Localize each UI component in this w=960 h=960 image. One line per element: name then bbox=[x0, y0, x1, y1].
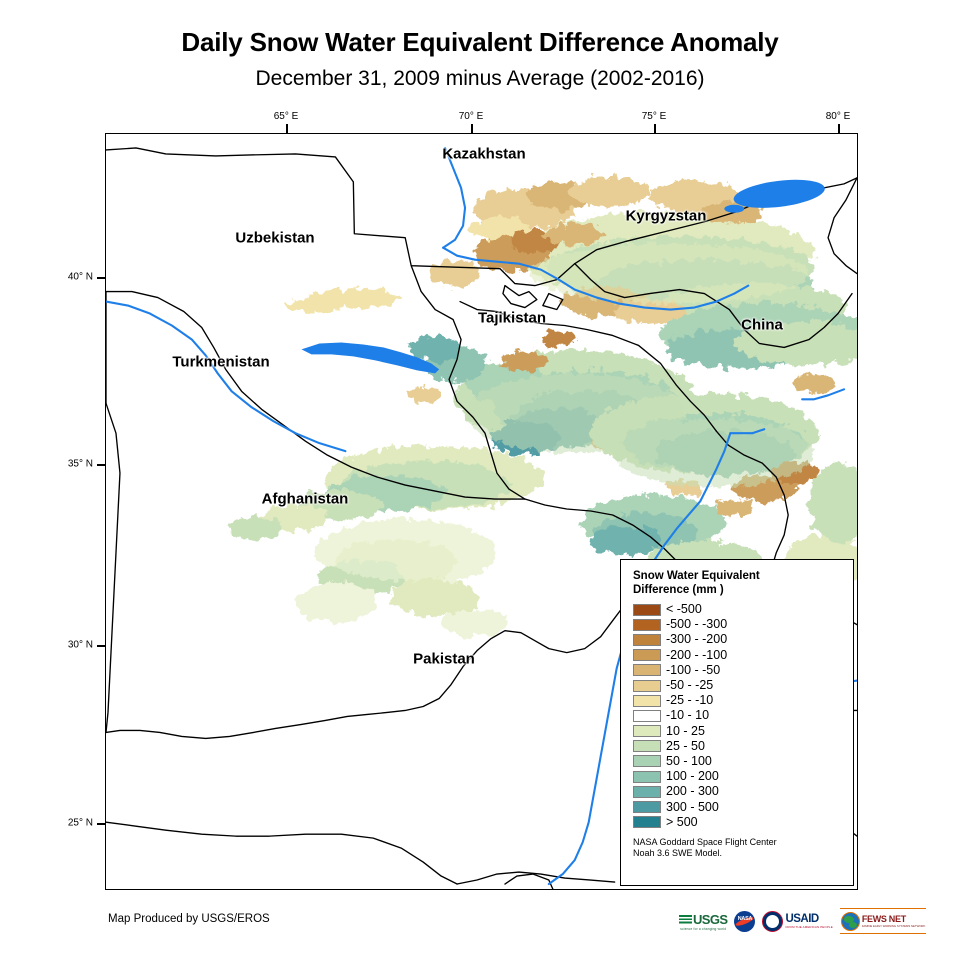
tick-y-label: 40° N bbox=[68, 272, 93, 283]
nasa-meatball-icon: NASA bbox=[734, 911, 755, 932]
legend-label: < -500 bbox=[666, 603, 702, 616]
legend-row: 10 - 25 bbox=[633, 724, 843, 739]
usgs-wave-icon bbox=[679, 913, 692, 925]
country-label-kazakhstan: Kazakhstan bbox=[442, 146, 525, 163]
legend-label: 100 - 200 bbox=[666, 770, 719, 783]
legend-label: -25 - -10 bbox=[666, 694, 713, 707]
page-title: Daily Snow Water Equivalent Difference A… bbox=[0, 27, 960, 58]
map-credit: Map Produced by USGS/EROS bbox=[108, 913, 270, 925]
legend-swatch bbox=[633, 771, 661, 783]
legend-label: > 500 bbox=[666, 816, 698, 829]
country-label-china: China bbox=[741, 317, 783, 334]
legend-row: 100 - 200 bbox=[633, 769, 843, 784]
legend-row: -25 - -10 bbox=[633, 693, 843, 708]
tick-y-label: 25° N bbox=[68, 818, 93, 829]
legend-swatch bbox=[633, 755, 661, 767]
legend-row: -10 - 10 bbox=[633, 708, 843, 723]
country-label-kyrgyzstan: Kyrgyzstan bbox=[626, 208, 707, 225]
legend-row: -300 - -200 bbox=[633, 632, 843, 647]
legend-label: -100 - -50 bbox=[666, 664, 720, 677]
legend-swatch bbox=[633, 634, 661, 646]
legend-title-line1: Snow Water Equivalent bbox=[633, 569, 843, 583]
tick-x-label: 70° E bbox=[459, 111, 484, 122]
legend-source: NASA Goddard Space Flight Center Noah 3.… bbox=[633, 837, 843, 860]
tick-x-mark bbox=[471, 124, 473, 133]
fews-globe-icon bbox=[841, 912, 860, 931]
legend-source-line1: NASA Goddard Space Flight Center bbox=[633, 837, 843, 849]
legend-label: 25 - 50 bbox=[666, 740, 705, 753]
tick-x-label: 65° E bbox=[274, 111, 299, 122]
legend-row: < -500 bbox=[633, 602, 843, 617]
legend-label: -200 - -100 bbox=[666, 649, 727, 662]
fews-logo[interactable]: FEWS NET FAMINE EARLY WARNING SYSTEMS NE… bbox=[840, 908, 927, 934]
legend-row: -100 - -50 bbox=[633, 663, 843, 678]
legend-row: 50 - 100 bbox=[633, 754, 843, 769]
tick-y-label: 30° N bbox=[68, 640, 93, 651]
nasa-wordmark: NASA bbox=[734, 916, 755, 922]
page-subtitle: December 31, 2009 minus Average (2002-20… bbox=[0, 67, 960, 91]
tick-y-mark bbox=[97, 645, 106, 647]
legend-label: -50 - -25 bbox=[666, 679, 713, 692]
tick-y-mark bbox=[97, 464, 106, 466]
legend-swatch bbox=[633, 816, 661, 828]
tick-x-mark bbox=[654, 124, 656, 133]
legend-label: 300 - 500 bbox=[666, 801, 719, 814]
legend-swatch bbox=[633, 710, 661, 722]
legend-swatch bbox=[633, 740, 661, 752]
country-label-tajikistan: Tajikistan bbox=[478, 310, 546, 327]
legend-title: Snow Water Equivalent Difference (mm ) bbox=[633, 569, 843, 597]
tick-y-mark bbox=[97, 277, 106, 279]
legend-swatch bbox=[633, 695, 661, 707]
usaid-logo[interactable]: USAID FROM THE AMERICAN PEOPLE bbox=[762, 910, 832, 932]
usaid-wordmark: USAID bbox=[785, 913, 832, 925]
legend-label: -500 - -300 bbox=[666, 618, 727, 631]
usgs-tagline: science for a changing world bbox=[680, 927, 726, 931]
legend-source-line2: Noah 3.6 SWE Model. bbox=[633, 848, 843, 860]
legend-swatch bbox=[633, 649, 661, 661]
tick-x-mark bbox=[286, 124, 288, 133]
legend-swatch bbox=[633, 680, 661, 692]
usaid-seal-icon bbox=[762, 911, 783, 932]
tick-x-label: 75° E bbox=[642, 111, 667, 122]
tick-x-mark bbox=[838, 124, 840, 133]
legend-swatch bbox=[633, 786, 661, 798]
legend-swatch bbox=[633, 801, 661, 813]
legend-class-list: < -500-500 - -300-300 - -200-200 - -100-… bbox=[633, 602, 843, 830]
tick-x-label: 80° E bbox=[826, 111, 851, 122]
legend-swatch bbox=[633, 604, 661, 616]
country-label-pakistan: Pakistan bbox=[413, 651, 475, 668]
country-label-turkmenistan: Turkmenistan bbox=[172, 354, 269, 371]
tick-y-label: 35° N bbox=[68, 459, 93, 470]
legend-label: -10 - 10 bbox=[666, 709, 709, 722]
legend-row: -200 - -100 bbox=[633, 648, 843, 663]
agency-logos: USGS science for a changing world NASA U… bbox=[679, 908, 926, 934]
usgs-wordmark: USGS bbox=[693, 912, 727, 927]
tick-y-mark bbox=[97, 823, 106, 825]
map-legend: Snow Water Equivalent Difference (mm ) <… bbox=[620, 559, 854, 886]
legend-row: 200 - 300 bbox=[633, 784, 843, 799]
country-label-afghanistan: Afghanistan bbox=[262, 491, 349, 508]
legend-label: 50 - 100 bbox=[666, 755, 712, 768]
usaid-tagline: FROM THE AMERICAN PEOPLE bbox=[785, 925, 832, 929]
fews-tagline: FAMINE EARLY WARNING SYSTEMS NETWORK bbox=[862, 924, 926, 928]
legend-row: > 500 bbox=[633, 815, 843, 830]
legend-row: -500 - -300 bbox=[633, 617, 843, 632]
usgs-logo[interactable]: USGS science for a changing world bbox=[679, 910, 727, 932]
legend-row: 300 - 500 bbox=[633, 799, 843, 814]
legend-title-line2: Difference (mm ) bbox=[633, 583, 843, 597]
legend-swatch bbox=[633, 619, 661, 631]
legend-label: 200 - 300 bbox=[666, 785, 719, 798]
legend-row: -50 - -25 bbox=[633, 678, 843, 693]
country-label-uzbekistan: Uzbekistan bbox=[235, 230, 314, 247]
nasa-logo[interactable]: NASA bbox=[734, 910, 755, 932]
fews-wordmark: FEWS NET bbox=[862, 914, 926, 924]
legend-swatch bbox=[633, 664, 661, 676]
legend-row: 25 - 50 bbox=[633, 739, 843, 754]
legend-swatch bbox=[633, 725, 661, 737]
legend-label: -300 - -200 bbox=[666, 633, 727, 646]
legend-label: 10 - 25 bbox=[666, 725, 705, 738]
